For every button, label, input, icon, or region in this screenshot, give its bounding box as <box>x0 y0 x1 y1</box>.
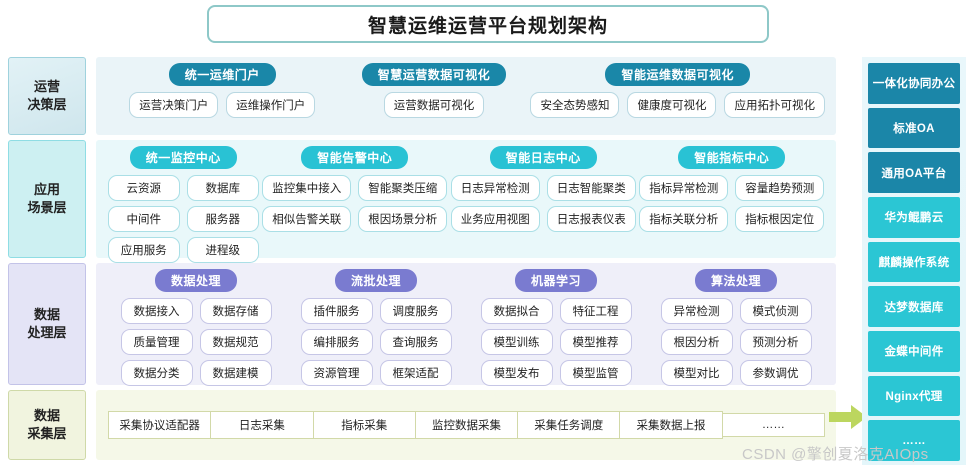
layer-row-data-processing: 数据 处理层 数据处理 数据接入 数据存储 质量管理 数据规范 数据分类 <box>8 263 836 385</box>
group-title: 数据处理 <box>155 269 237 292</box>
chip-item[interactable]: 日志报表仪表 <box>547 206 636 232</box>
chip-item[interactable]: 模型对比 <box>661 360 733 386</box>
chip-item[interactable]: 调度服务 <box>380 298 452 324</box>
chip-item[interactable]: 模型发布 <box>481 360 553 386</box>
sidebar-item-huawei-kunpeng-cloud[interactable]: 华为鲲鹏云 <box>868 197 960 238</box>
group-title: 智慧运营数据可视化 <box>362 63 507 86</box>
chip-item[interactable]: 云资源 <box>108 175 180 201</box>
group-data-processing: 数据处理 数据接入 数据存储 质量管理 数据规范 数据分类 数据建模 <box>121 269 272 386</box>
layer-label-data-collection: 数据 采集层 <box>8 390 86 460</box>
sidebar-item-nginx-proxy[interactable]: Nginx代理 <box>868 376 960 417</box>
chip-item[interactable]: 数据规范 <box>200 329 272 355</box>
chip-item[interactable]: 模型监管 <box>560 360 632 386</box>
layer-label-data-processing: 数据 处理层 <box>8 263 86 385</box>
chip-item[interactable]: 指标根因定位 <box>735 206 824 232</box>
chip-item[interactable]: 模型推荐 <box>560 329 632 355</box>
layer-label-application-scenario: 应用 场景层 <box>8 140 86 258</box>
group-intelligent-metric-center: 智能指标中心 指标异常检测 容量趋势预测 指标关联分析 指标根因定位 <box>639 146 824 232</box>
layer-body-data-collection: 采集协议适配器 日志采集 指标采集 监控数据采集 采集任务调度 采集数据上报 …… <box>96 390 836 460</box>
group-algorithm-processing: 算法处理 异常检测 模式侦测 根因分析 预测分析 模型对比 参数调优 <box>661 269 812 386</box>
chip-item[interactable]: 数据拟合 <box>481 298 553 324</box>
layer-label-text: 数据 采集层 <box>27 407 66 442</box>
layer-label-text: 数据 处理层 <box>27 306 66 341</box>
group-title: 智能告警中心 <box>301 146 408 169</box>
chip-list: 安全态势感知 健康度可视化 应用拓扑可视化 <box>553 92 803 118</box>
collection-chip-ellipsis[interactable]: …… <box>722 413 825 437</box>
chip-item[interactable]: 安全态势感知 <box>530 92 619 118</box>
chip-list: 日志异常检测 日志智能聚类 业务应用视图 日志报表仪表 <box>451 175 636 232</box>
collection-chip[interactable]: 日志采集 <box>210 411 313 439</box>
diagram-title-container: 智慧运维运营平台规划架构 <box>207 5 769 43</box>
chip-item[interactable]: 应用拓扑可视化 <box>724 92 825 118</box>
group-container: 统一运维门户 运营决策门户 运维操作门户 智慧运营数据可视化 运营数据可视化 <box>106 63 826 129</box>
group-smart-ops-data-visualization: 智慧运营数据可视化 运营数据可视化 <box>362 63 507 118</box>
chip-item[interactable]: 数据接入 <box>121 298 193 324</box>
group-title: 智能指标中心 <box>678 146 785 169</box>
chip-item[interactable]: 模式侦测 <box>740 298 812 324</box>
group-unified-ops-portal: 统一运维门户 运营决策门户 运维操作门户 <box>129 63 315 118</box>
chip-item[interactable]: 插件服务 <box>301 298 373 324</box>
chip-item[interactable]: 数据存储 <box>200 298 272 324</box>
chip-item[interactable]: 数据分类 <box>121 360 193 386</box>
collection-chip[interactable]: 采集任务调度 <box>517 411 620 439</box>
chip-list: 运营数据可视化 <box>384 92 485 118</box>
chip-item[interactable]: 应用服务 <box>108 237 180 263</box>
chip-list: 云资源 数据库 中间件 服务器 应用服务 进程级 <box>108 175 259 263</box>
group-title: 统一监控中心 <box>130 146 237 169</box>
sidebar-item-kylin-os[interactable]: 麒麟操作系统 <box>868 242 960 283</box>
chip-list: 异常检测 模式侦测 根因分析 预测分析 模型对比 参数调优 <box>661 298 812 386</box>
group-stream-batch-processing: 流批处理 插件服务 调度服务 编排服务 查询服务 资源管理 框架适配 <box>301 269 452 386</box>
chip-item[interactable]: 根因场景分析 <box>358 206 447 232</box>
chip-item[interactable]: 根因分析 <box>661 329 733 355</box>
group-title: 智能运维数据可视化 <box>605 63 750 86</box>
layer-row-data-collection: 数据 采集层 采集协议适配器 日志采集 指标采集 监控数据采集 采集任务调度 采… <box>8 390 836 460</box>
layer-label-operations-decision: 运营 决策层 <box>8 57 86 135</box>
group-machine-learning: 机器学习 数据拟合 特征工程 模型训练 模型推荐 模型发布 模型监管 <box>481 269 632 386</box>
sidebar-item-standard-oa[interactable]: 标准OA <box>868 108 960 149</box>
chip-item[interactable]: 数据库 <box>187 175 259 201</box>
group-container: 数据处理 数据接入 数据存储 质量管理 数据规范 数据分类 数据建模 流批处理 <box>106 269 826 379</box>
chip-item[interactable]: 日志异常检测 <box>451 175 540 201</box>
chip-item[interactable]: 运维操作门户 <box>226 92 315 118</box>
chip-item[interactable]: 健康度可视化 <box>627 92 716 118</box>
sidebar-item-integrated-office[interactable]: 一体化协同办公 <box>868 63 960 104</box>
group-title: 智能日志中心 <box>490 146 597 169</box>
chip-item[interactable]: 进程级 <box>187 237 259 263</box>
layer-body-data-processing: 数据处理 数据接入 数据存储 质量管理 数据规范 数据分类 数据建模 流批处理 <box>96 263 836 385</box>
chip-item[interactable]: 监控集中接入 <box>262 175 351 201</box>
layer-stack: 运营 决策层 统一运维门户 运营决策门户 运维操作门户 智慧运营数据可视化 <box>8 57 836 465</box>
watermark: CSDN @擎创夏洛克AIOps <box>742 443 929 464</box>
layer-row-operations-decision: 运营 决策层 统一运维门户 运营决策门户 运维操作门户 智慧运营数据可视化 <box>8 57 836 135</box>
architecture-diagram: 智慧运维运营平台规划架构 运营 决策层 统一运维门户 运营决策门户 运维操作门户 <box>0 0 973 471</box>
chip-item[interactable]: 资源管理 <box>301 360 373 386</box>
group-intelligent-log-center: 智能日志中心 日志异常检测 日志智能聚类 业务应用视图 日志报表仪表 <box>451 146 636 232</box>
chip-item[interactable]: 质量管理 <box>121 329 193 355</box>
chip-item[interactable]: 编排服务 <box>301 329 373 355</box>
layer-body-operations-decision: 统一运维门户 运营决策门户 运维操作门户 智慧运营数据可视化 运营数据可视化 <box>96 57 836 135</box>
chip-item[interactable]: 中间件 <box>108 206 180 232</box>
chip-item[interactable]: 框架适配 <box>380 360 452 386</box>
sidebar-item-dameng-database[interactable]: 达梦数据库 <box>868 286 960 327</box>
chip-list: 指标异常检测 容量趋势预测 指标关联分析 指标根因定位 <box>639 175 824 232</box>
layer-label-text: 运营 决策层 <box>27 78 66 113</box>
chip-item[interactable]: 模型训练 <box>481 329 553 355</box>
chip-list: 插件服务 调度服务 编排服务 查询服务 资源管理 框架适配 <box>301 298 452 386</box>
chip-item[interactable]: 查询服务 <box>380 329 452 355</box>
layer-row-application-scenario: 应用 场景层 统一监控中心 云资源 数据库 中间件 服务器 应用服务 进程 <box>8 140 836 258</box>
chip-item[interactable]: 业务应用视图 <box>451 206 540 232</box>
group-title: 统一运维门户 <box>169 63 276 86</box>
group-intelligent-ops-data-visualization: 智能运维数据可视化 安全态势感知 健康度可视化 应用拓扑可视化 <box>553 63 803 118</box>
chip-list: 监控集中接入 智能聚类压缩 相似告警关联 根因场景分析 <box>262 175 447 232</box>
chip-item[interactable]: 智能聚类压缩 <box>358 175 447 201</box>
group-title: 算法处理 <box>695 269 777 292</box>
collection-chip-list: 采集协议适配器 日志采集 指标采集 监控数据采集 采集任务调度 采集数据上报 …… <box>106 396 826 454</box>
chip-item[interactable]: 预测分析 <box>740 329 812 355</box>
collection-chip[interactable]: 监控数据采集 <box>415 411 518 439</box>
chip-item[interactable]: 运营决策门户 <box>129 92 218 118</box>
group-title: 机器学习 <box>515 269 597 292</box>
group-title: 流批处理 <box>335 269 417 292</box>
layer-body-application-scenario: 统一监控中心 云资源 数据库 中间件 服务器 应用服务 进程级 智能告警中心 <box>96 140 836 258</box>
chip-item[interactable]: 特征工程 <box>560 298 632 324</box>
chip-item[interactable]: 相似告警关联 <box>262 206 351 232</box>
sidebar-item-general-oa-platform[interactable]: 通用OA平台 <box>868 152 960 193</box>
chip-item[interactable]: 数据建模 <box>200 360 272 386</box>
chip-list: 运营决策门户 运维操作门户 <box>129 92 315 118</box>
group-container: 统一监控中心 云资源 数据库 中间件 服务器 应用服务 进程级 智能告警中心 <box>106 146 826 252</box>
sidebar-item-kingdee-middleware[interactable]: 金蝶中间件 <box>868 331 960 372</box>
page-title: 智慧运维运营平台规划架构 <box>368 11 608 38</box>
chip-item[interactable]: 指标关联分析 <box>639 206 728 232</box>
chip-list: 数据接入 数据存储 质量管理 数据规范 数据分类 数据建模 <box>121 298 272 386</box>
collection-chip[interactable]: 采集数据上报 <box>619 411 722 439</box>
chip-item[interactable]: 服务器 <box>187 206 259 232</box>
diagram-title-box: 智慧运维运营平台规划架构 <box>207 5 769 43</box>
supporting-platform-sidebar: 一体化协同办公 标准OA 通用OA平台 华为鲲鹏云 麒麟操作系统 达梦数据库 金… <box>862 57 966 465</box>
collection-chip[interactable]: 采集协议适配器 <box>108 411 211 439</box>
chip-list: 数据拟合 特征工程 模型训练 模型推荐 模型发布 模型监管 <box>481 298 632 386</box>
layer-label-text: 应用 场景层 <box>27 181 66 216</box>
chip-item[interactable]: 指标异常检测 <box>639 175 728 201</box>
group-intelligent-alarm-center: 智能告警中心 监控集中接入 智能聚类压缩 相似告警关联 根因场景分析 <box>262 146 447 232</box>
collection-chip[interactable]: 指标采集 <box>313 411 416 439</box>
chip-item[interactable]: 运营数据可视化 <box>384 92 485 118</box>
chip-item[interactable]: 容量趋势预测 <box>735 175 824 201</box>
chip-item[interactable]: 日志智能聚类 <box>547 175 636 201</box>
group-unified-monitoring-center: 统一监控中心 云资源 数据库 中间件 服务器 应用服务 进程级 <box>108 146 259 263</box>
chip-item[interactable]: 异常检测 <box>661 298 733 324</box>
chip-item[interactable]: 参数调优 <box>740 360 812 386</box>
